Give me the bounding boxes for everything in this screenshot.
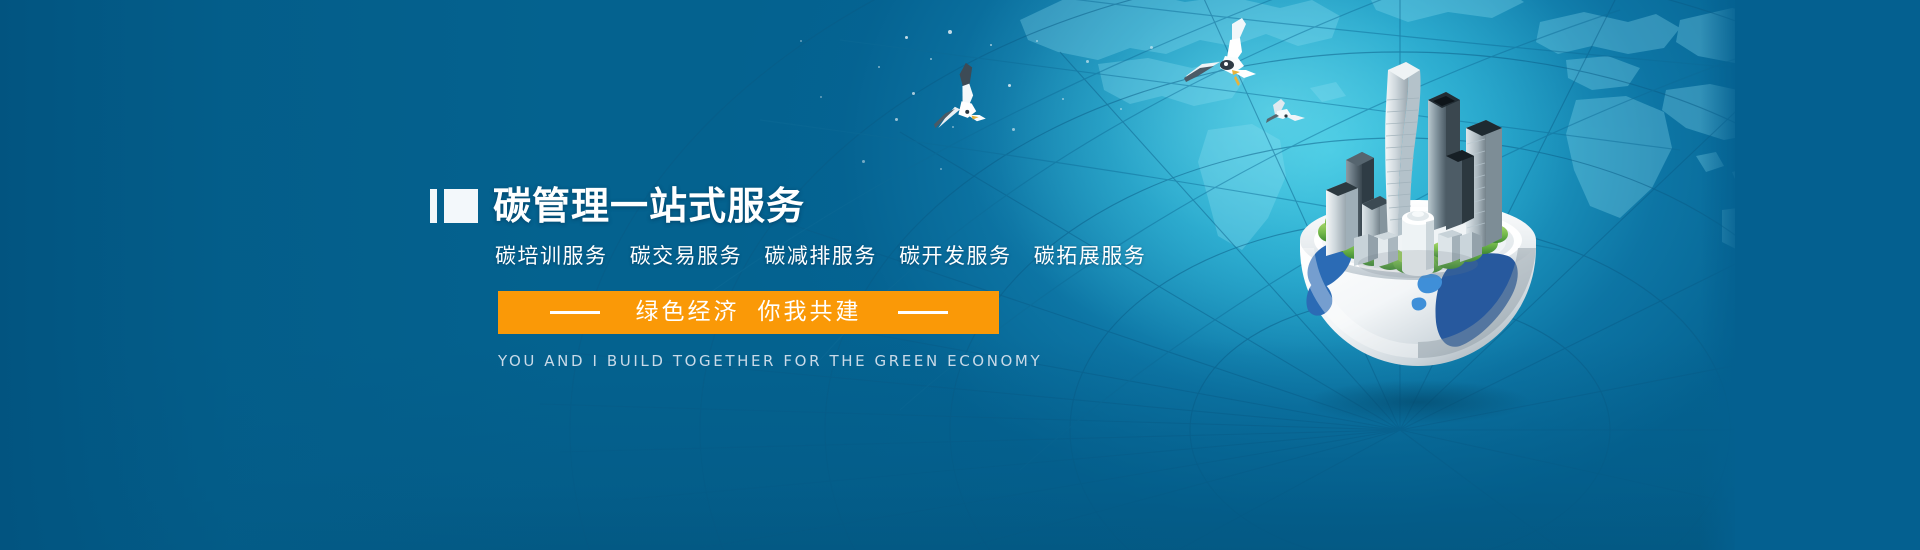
english-tagline: YOU AND I BUILD TOGETHER FOR THE GREEN E… bbox=[498, 353, 999, 370]
page-title: 碳管理一站式服务 bbox=[493, 186, 805, 226]
background-seam bbox=[1735, 0, 1920, 550]
carbon-management-banner: 碳管理一站式服务 碳培训服务 碳交易服务 碳减排服务 碳开发服务 碳拓展服务 绿… bbox=[0, 0, 1920, 550]
slogan-phrase-2: 你我共建 bbox=[758, 299, 862, 325]
slogan-rule-right bbox=[898, 311, 948, 314]
title-row: 碳管理一站式服务 bbox=[430, 186, 1050, 226]
service-item-1: 碳培训服务 bbox=[495, 244, 608, 268]
slogan-phrase-1: 绿色经济 bbox=[636, 299, 740, 325]
slogan-text: 绿色经济你我共建 bbox=[636, 301, 862, 324]
globe-city-illustration bbox=[1270, 40, 1560, 430]
mark-bar bbox=[430, 189, 437, 223]
mark-square bbox=[444, 189, 478, 223]
service-item-4: 碳开发服务 bbox=[899, 244, 1012, 268]
service-list: 碳培训服务 碳交易服务 碳减排服务 碳开发服务 碳拓展服务 bbox=[495, 244, 1050, 268]
service-item-2: 碳交易服务 bbox=[630, 244, 743, 268]
banner-content: 碳管理一站式服务 碳培训服务 碳交易服务 碳减排服务 碳开发服务 碳拓展服务 绿… bbox=[430, 186, 1050, 370]
bar-square-mark-icon bbox=[430, 189, 478, 223]
slogan-banner: 绿色经济你我共建 bbox=[498, 291, 999, 334]
service-item-3: 碳减排服务 bbox=[764, 244, 877, 268]
service-item-5: 碳拓展服务 bbox=[1034, 244, 1147, 268]
slogan-rule-left bbox=[550, 311, 600, 314]
